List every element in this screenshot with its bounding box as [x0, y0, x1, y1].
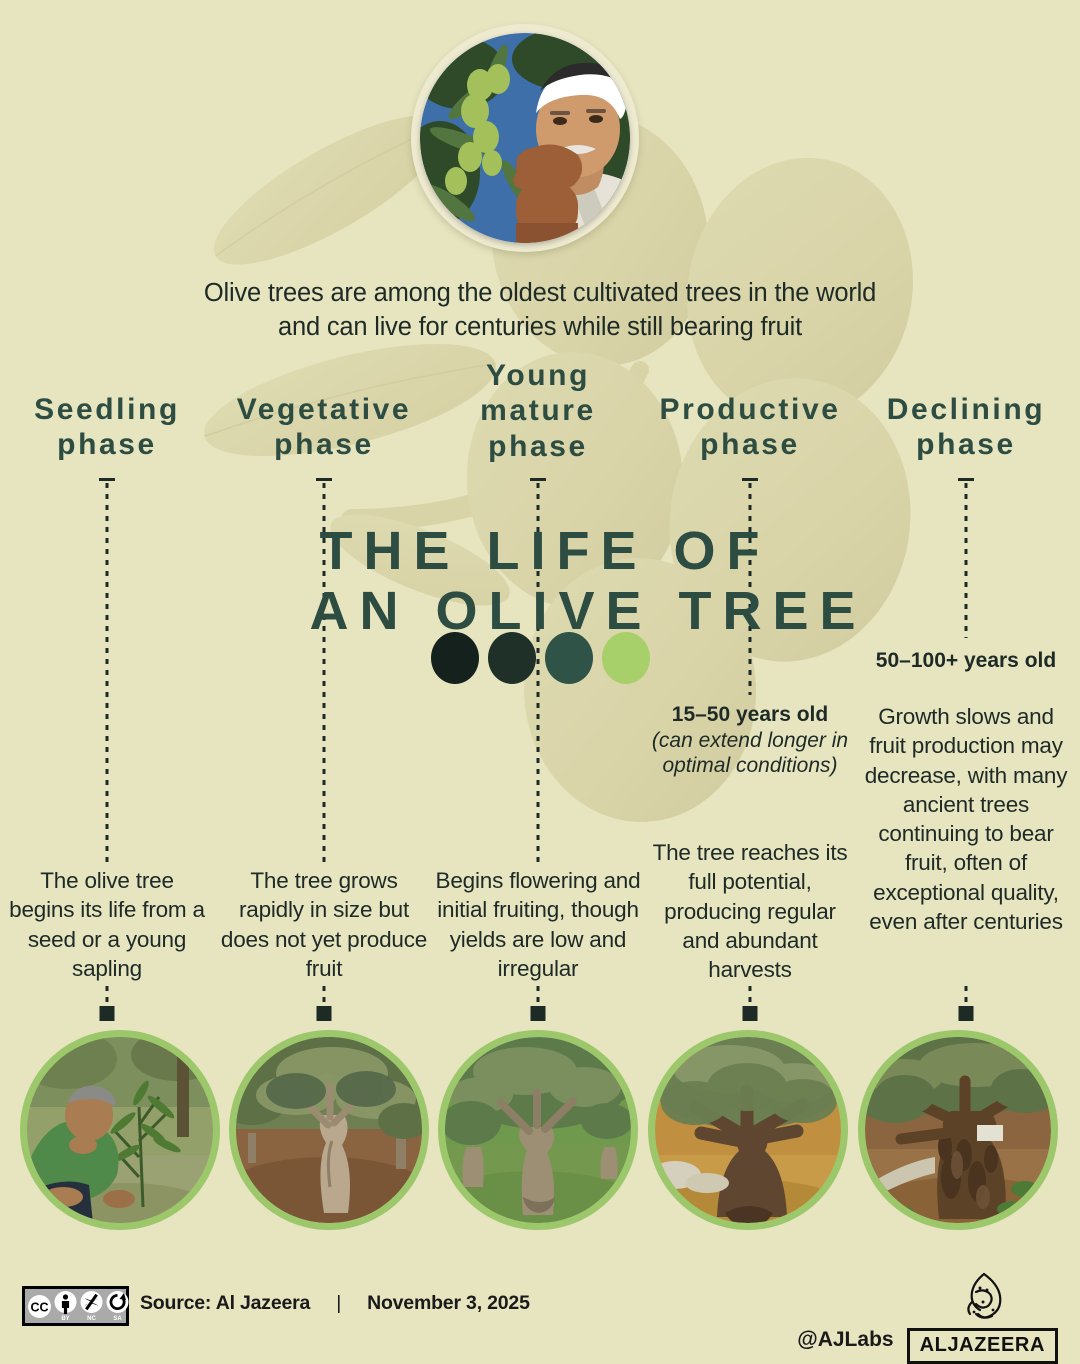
connector-end-marker [317, 1006, 332, 1021]
phase-title-line2: phase [488, 430, 588, 463]
phase-description-productive: The tree reaches its full potential, pro… [648, 838, 852, 984]
phase-title-young-mature: Young mature phase [434, 358, 642, 464]
phase-title-line1: Young mature [480, 359, 596, 427]
publication-date: November 3, 2025 [367, 1292, 530, 1315]
phase-age-note: (can extend longer in optimal conditions… [648, 728, 852, 779]
phase-title-line1: Declining [887, 393, 1045, 426]
connector-end-marker [959, 1006, 974, 1021]
palette-dot-2 [488, 632, 536, 684]
page-title-line-1: THE LIFE OF [0, 521, 1080, 581]
phase-description-young-mature: Begins flowering and initial fruiting, t… [434, 866, 642, 983]
connector-end-marker [100, 1006, 115, 1021]
svg-text:SA: SA [113, 1316, 122, 1322]
palette-dots [0, 632, 1080, 684]
aljazeera-arabic-logo-icon [954, 1272, 1010, 1324]
phase-title-line2: phase [916, 428, 1016, 461]
svg-text:NC: NC [87, 1316, 96, 1322]
aljazeera-branding: @AJLabs ALJAZEERA [797, 1272, 1058, 1364]
connector-end-marker [743, 1006, 758, 1021]
phase-title-productive: Productive phase [648, 392, 852, 463]
cc-icon: CC [27, 1294, 52, 1319]
aljazeera-wordmark: ALJAZEERA [907, 1328, 1058, 1364]
phase-age-value: 15–50 years old [672, 703, 828, 726]
phase-description-declining: Growth slows and fruit production may de… [860, 702, 1072, 936]
cc-sa-icon: SA [105, 1290, 130, 1322]
phase-title-line2: phase [700, 428, 800, 461]
connector-end-marker [531, 1006, 546, 1021]
ajlabs-handle[interactable]: @AJLabs [797, 1328, 893, 1364]
phase-title-vegetative: Vegetative phase [218, 392, 430, 463]
cc-by-icon: BY [53, 1290, 78, 1322]
connector-tick [742, 478, 758, 481]
phase-title-line1: Vegetative [237, 393, 411, 426]
connector-tick [530, 478, 546, 481]
credit-separator: | [310, 1292, 367, 1315]
phase-description-seedling: The olive tree begins its life from a se… [6, 866, 208, 983]
connector-tick [958, 478, 974, 481]
creative-commons-badge[interactable]: CC BY NC SA [22, 1286, 129, 1326]
svg-text:CC: CC [30, 1300, 48, 1314]
palette-dot-3 [545, 632, 593, 684]
phase-age-productive: 15–50 years old (can extend longer in op… [648, 702, 852, 779]
palette-dot-4 [602, 632, 650, 684]
source-text: Source: Al Jazeera [140, 1292, 310, 1315]
phase-title-line2: phase [57, 428, 157, 461]
source-credit: Source: Al Jazeera | November 3, 2025 [140, 1292, 530, 1315]
cc-nc-icon: NC [79, 1290, 104, 1322]
svg-text:BY: BY [61, 1316, 69, 1322]
phase-description-vegetative: The tree grows rapidly in size but does … [218, 866, 430, 983]
page-title: THE LIFE OF AN OLIVE TREE [0, 521, 1080, 642]
footer: CC BY NC SA Source: A [0, 1270, 1080, 1350]
phase-title-line2: phase [274, 428, 374, 461]
phase-title-declining: Declining phase [860, 392, 1072, 463]
phase-title-seedling: Seedling phase [6, 392, 208, 463]
connector-tick [316, 478, 332, 481]
connector-tick [99, 478, 115, 481]
phase-title-line1: Seedling [34, 393, 180, 426]
palette-dot-1 [431, 632, 479, 684]
phase-title-line1: Productive [659, 393, 840, 426]
